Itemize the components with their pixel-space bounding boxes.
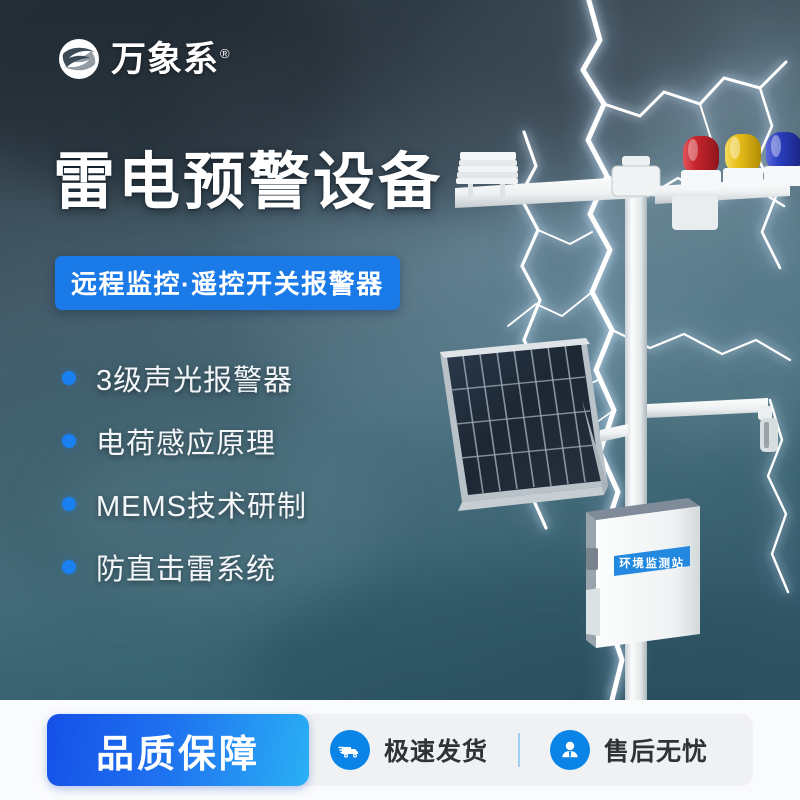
brand-name: 万象系 bbox=[111, 40, 219, 79]
feature-list: 3级声光报警器 电荷感应原理 MEMS技术研制 防直击雷系统 bbox=[62, 348, 307, 600]
product-poster: 环境监测站 万象系® 雷电预警设备 远程监控·遥控开关报警器 3级声光报警器 电… bbox=[0, 0, 800, 800]
page-title: 雷电预警设备 bbox=[53, 152, 443, 214]
brand-name-wrapper: 万象系® bbox=[111, 42, 231, 77]
trademark-symbol: ® bbox=[220, 46, 231, 61]
bullet-dot-icon bbox=[62, 560, 76, 574]
promo-after-sales: 售后无忧 bbox=[550, 730, 708, 770]
bullet-dot-icon bbox=[62, 497, 76, 511]
quality-badge-label: 品质保障 bbox=[96, 723, 260, 778]
swirl-globe-logo-icon bbox=[56, 36, 102, 82]
blue-alarm-beacon bbox=[764, 132, 800, 186]
yellow-alarm-beacon bbox=[723, 134, 763, 188]
red-alarm-beacon bbox=[681, 136, 721, 190]
bullet-dot-icon bbox=[62, 371, 76, 385]
customer-support-icon bbox=[550, 730, 590, 770]
quality-badge: 品质保障 bbox=[47, 714, 309, 786]
promo-fast-shipping: 极速发货 bbox=[330, 730, 488, 770]
feature-label: MEMS技术研制 bbox=[96, 483, 307, 525]
brand-logo: 万象系® bbox=[56, 36, 231, 82]
feature-label: 电荷感应原理 bbox=[96, 420, 276, 462]
feature-label: 防直击雷系统 bbox=[96, 546, 276, 588]
delivery-truck-icon bbox=[330, 730, 370, 770]
list-item: MEMS技术研制 bbox=[62, 474, 307, 534]
promo-group: 极速发货 售后无忧 bbox=[330, 714, 708, 786]
promo-divider bbox=[518, 733, 520, 767]
list-item: 3级声光报警器 bbox=[62, 348, 307, 408]
bottom-trust-bar: 品质保障 极速发货 bbox=[0, 700, 800, 800]
subtitle-badge: 远程监控·遥控开关报警器 bbox=[55, 256, 400, 310]
sensor-arm bbox=[647, 398, 778, 452]
solar-panel bbox=[440, 338, 628, 511]
crossarm-clamp bbox=[612, 166, 660, 196]
promo-label: 售后无忧 bbox=[604, 732, 708, 768]
promo-label: 极速发货 bbox=[384, 732, 488, 768]
beacon-platform-bracket bbox=[672, 196, 718, 230]
list-item: 电荷感应原理 bbox=[62, 411, 307, 471]
bullet-dot-icon bbox=[62, 434, 76, 448]
feature-label: 3级声光报警器 bbox=[96, 357, 293, 399]
list-item: 防直击雷系统 bbox=[62, 537, 307, 597]
